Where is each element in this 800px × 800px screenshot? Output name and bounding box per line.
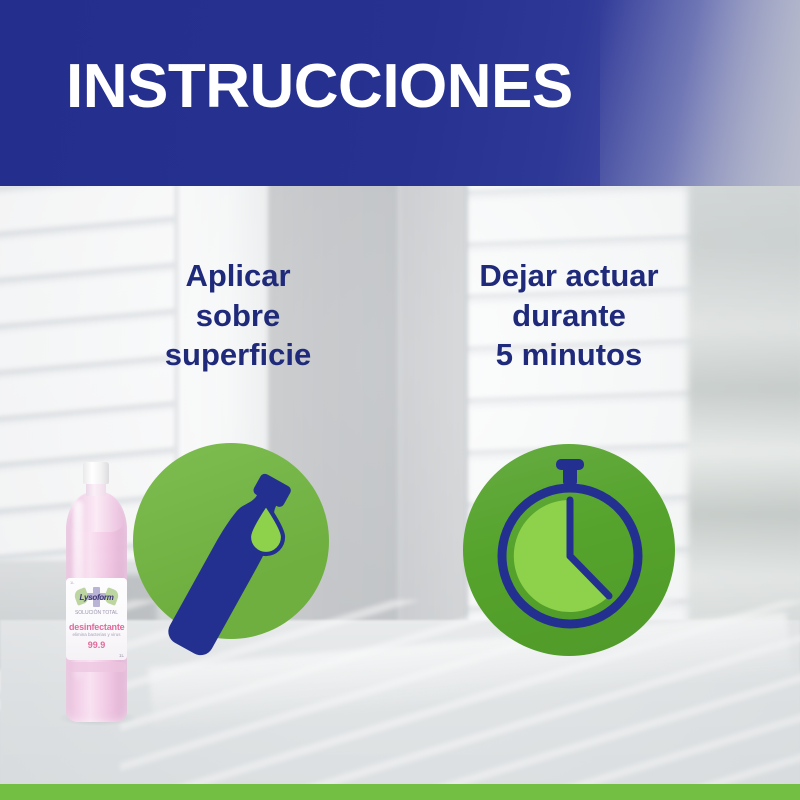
step-2-caption: Dejar actuar durante 5 minutos [448,256,690,375]
page-title: INSTRUCCIONES [66,56,573,118]
product-claim-percent: 99.9 [69,640,124,650]
stopwatch-crown [556,459,584,485]
bottle-and-droplet-icon [120,440,350,670]
product-category: desinfectante [69,622,124,632]
product-logo: Lysoform [74,586,119,608]
product-claim-sub: elimina bacterias y virus [69,632,124,637]
step-1-caption: Aplicar sobre superficie [118,256,358,375]
product-label: 1L Lysoform SOLUCIÓN TOTAL desinfectante… [66,578,127,660]
product-bottle: 1L Lysoform SOLUCIÓN TOTAL desinfectante… [57,462,137,724]
instructions-infographic: INSTRUCCIONES Aplicar sobre superficie 1… [0,0,800,800]
product-size-note: 1L [70,580,74,585]
product-cap [83,462,109,484]
product-brand-name: Lysoform [74,593,119,602]
bottle-silhouette [164,469,299,660]
bottom-accent-bar [0,784,800,800]
product-descriptor: SOLUCIÓN TOTAL [69,610,124,616]
product-volume: 1L [119,653,124,658]
product-neck [86,482,106,496]
product-base-ring [67,662,126,672]
stopwatch-dial-elapsed [514,500,609,612]
stopwatch-icon [470,450,670,650]
